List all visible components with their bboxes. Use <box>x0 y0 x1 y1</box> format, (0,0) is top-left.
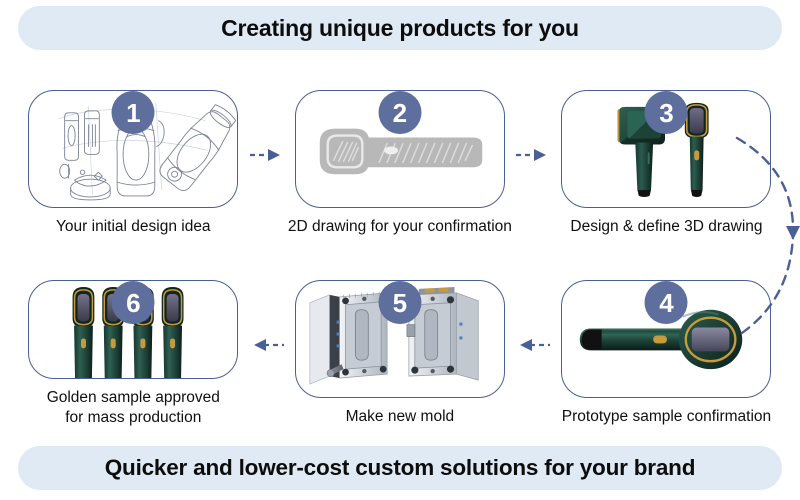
step-5: 5 <box>267 252 534 427</box>
bottom-banner-text: Quicker and lower-cost custom solutions … <box>105 455 696 481</box>
arrow-step2-to-step3 <box>516 148 550 162</box>
step-2: 2 <box>267 62 534 237</box>
step-5-panel: 5 <box>295 280 505 398</box>
step-6-caption: Golden sample approved for mass producti… <box>47 388 220 427</box>
process-row-top: 1 <box>0 62 800 237</box>
step-3-caption: Design & define 3D drawing <box>570 217 762 236</box>
bottom-banner: Quicker and lower-cost custom solutions … <box>18 446 782 490</box>
step-4-badge: 4 <box>645 281 688 324</box>
arrow-step1-to-step2 <box>250 148 284 162</box>
arrow-step4-to-step5 <box>516 338 550 352</box>
step-1-badge: 1 <box>112 91 155 134</box>
step-2-panel: 2 <box>295 90 505 208</box>
step-6: 6 <box>0 252 267 427</box>
arrow-step5-to-step6 <box>250 338 284 352</box>
step-6-badge: 6 <box>112 281 155 324</box>
step-3-badge: 3 <box>645 91 688 134</box>
step-1: 1 <box>0 62 267 237</box>
step-6-panel: 6 <box>28 280 238 379</box>
step-2-badge: 2 <box>378 91 421 134</box>
top-banner-text: Creating unique products for you <box>221 15 579 42</box>
step-4-caption: Prototype sample confirmation <box>562 407 771 426</box>
step-5-caption: Make new mold <box>346 407 455 426</box>
top-banner: Creating unique products for you <box>18 6 782 50</box>
step-1-caption: Your initial design idea <box>56 217 211 236</box>
arrow-step3-to-step4 <box>735 130 800 345</box>
process-row-bottom: 6 <box>0 252 800 427</box>
step-1-panel: 1 <box>28 90 238 208</box>
step-5-badge: 5 <box>378 281 421 324</box>
step-2-caption: 2D drawing for your confirmation <box>288 217 512 236</box>
